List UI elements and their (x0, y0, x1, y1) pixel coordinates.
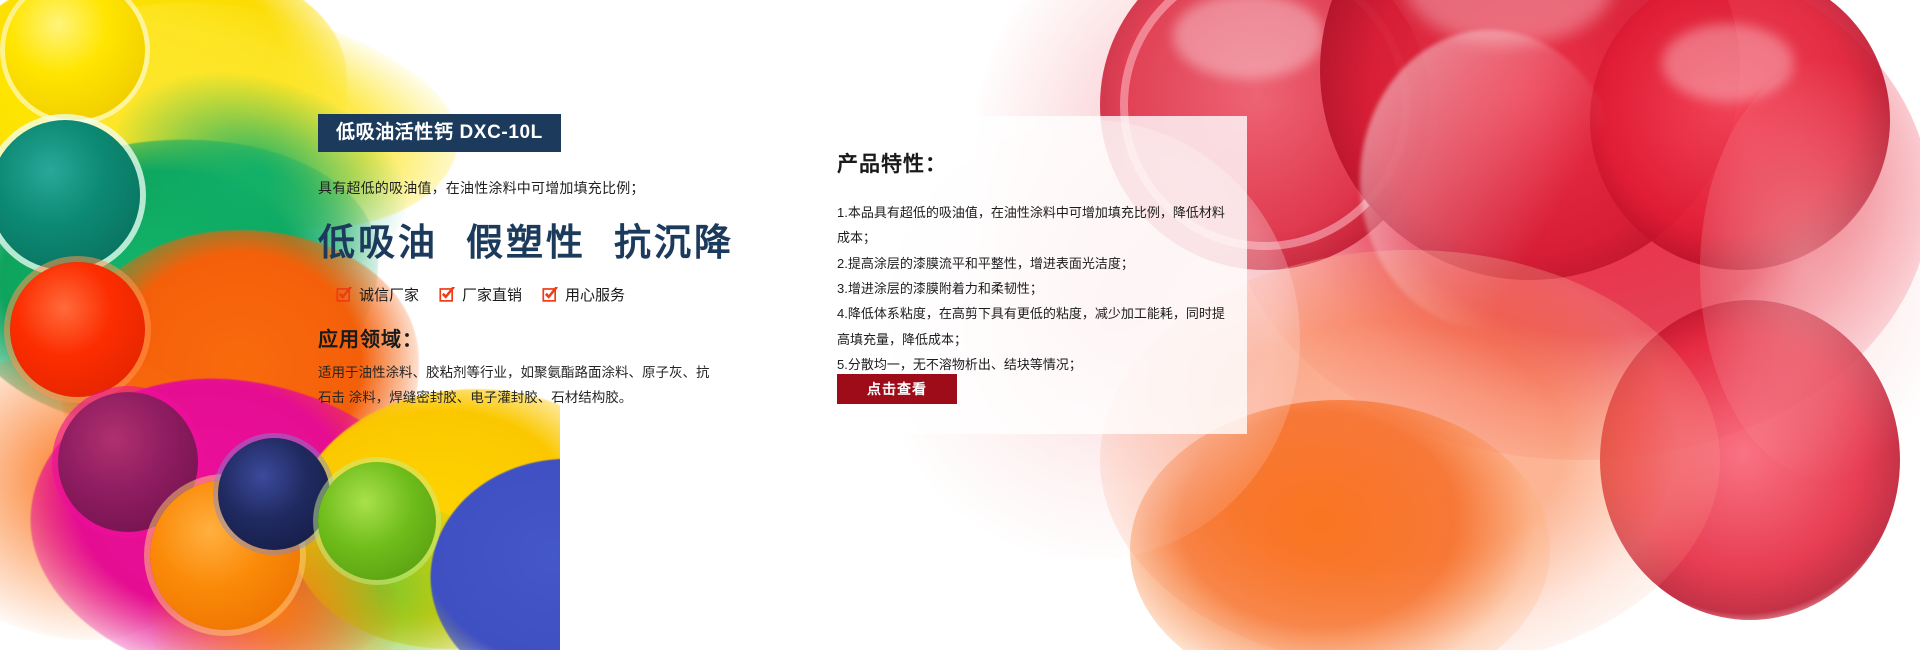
paint-pot-light-green (318, 462, 436, 580)
application-heading: 应用领域： (318, 323, 738, 352)
keyword-row: 低吸油 假塑性 抗沉降 (318, 212, 738, 266)
trust-tag-label: 诚信厂家 (359, 284, 419, 305)
white-streak (1360, 30, 1620, 330)
trust-tag-row: 诚信厂家 厂家直销 用心服务 (318, 284, 738, 305)
keyword-2: 假塑性 (466, 212, 586, 266)
paint-pot-dark-blue (218, 438, 330, 550)
checkbox-checked-icon (439, 286, 456, 303)
view-details-button[interactable]: 点击查看 (837, 374, 957, 404)
application-description: 适用于油性涂料、胶粘剂等行业，如聚氨酯路面涂料、原子灰、抗石击 涂料，焊缝密封胶… (318, 361, 718, 411)
product-banner: 低吸油活性钙 DXC-10L 具有超低的吸油值，在油性涂料中可增加填充比例； 低… (0, 0, 1920, 650)
product-name-badge: 低吸油活性钙 DXC-10L (318, 114, 561, 152)
application-line-2: 涂料，焊缝密封胶、电子灌封胶、石材结构胶。 (349, 390, 633, 405)
feature-line: 1.本品具有超低的吸油值，在油性涂料中可增加填充比例，降低材料 (837, 200, 1221, 225)
checkbox-checked-icon (336, 286, 353, 303)
checkbox-checked-icon (542, 286, 559, 303)
paint-pot-red (10, 262, 145, 397)
feature-line: 2.提高涂层的漆膜流平和平整性，增进表面光洁度； (837, 251, 1221, 276)
product-info-column: 低吸油活性钙 DXC-10L 具有超低的吸油值，在油性涂料中可增加填充比例； 低… (318, 114, 738, 411)
trust-tag-label: 用心服务 (565, 284, 625, 305)
trust-tag: 厂家直销 (439, 284, 522, 305)
trust-tag: 诚信厂家 (336, 284, 419, 305)
features-card-body: 产品特性： 1.本品具有超低的吸油值，在油性涂料中可增加填充比例，降低材料 成本… (805, 116, 1247, 377)
features-card-title: 产品特性： (837, 148, 1221, 178)
product-subtitle: 具有超低的吸油值，在油性涂料中可增加填充比例； (318, 178, 738, 198)
features-list: 1.本品具有超低的吸油值，在油性涂料中可增加填充比例，降低材料 成本； 2.提高… (837, 200, 1221, 377)
feature-line: 高填充量，降低成本； (837, 327, 1221, 352)
keyword-3: 抗沉降 (614, 212, 734, 266)
trust-tag: 用心服务 (542, 284, 625, 305)
feature-line: 4.降低体系粘度，在高剪下具有更低的粘度，减少加工能耗，同时提 (837, 301, 1221, 326)
trust-tag-label: 厂家直销 (462, 284, 522, 305)
feature-line: 3.增进涂层的漆膜附着力和柔韧性； (837, 276, 1221, 301)
feature-line: 成本； (837, 225, 1221, 250)
keyword-1: 低吸油 (318, 212, 438, 266)
product-features-card: 产品特性： 1.本品具有超低的吸油值，在油性涂料中可增加填充比例，降低材料 成本… (805, 116, 1247, 434)
